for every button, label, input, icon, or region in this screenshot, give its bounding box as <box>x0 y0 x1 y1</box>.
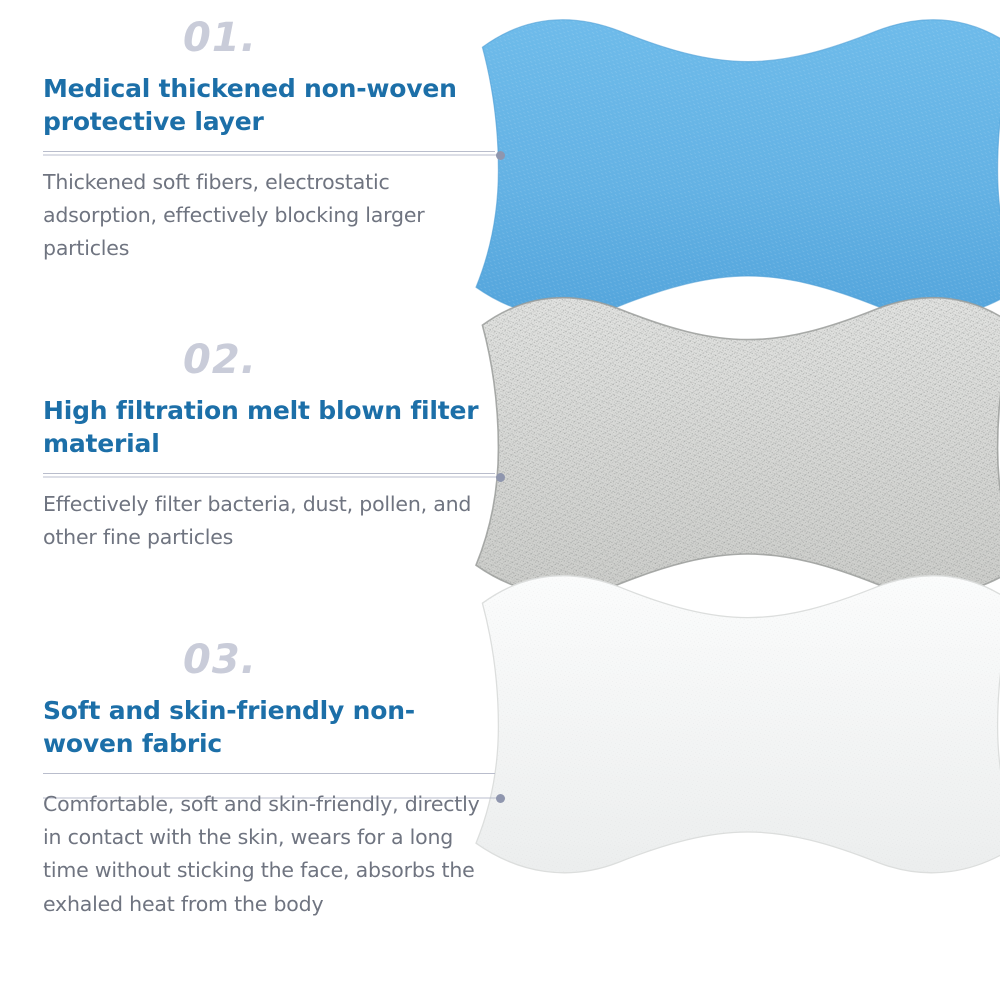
layer-1-divider <box>43 151 495 152</box>
layer-1-description: Thickened soft fibers, electrostatic ads… <box>43 166 495 266</box>
layer-3-number: 03. <box>183 640 495 680</box>
leader-dot-2 <box>496 473 505 482</box>
layer-3-title: Soft and skin-friendly non-woven fabric <box>43 694 495 760</box>
layer-1-shape <box>476 20 1000 317</box>
layer-2-divider <box>43 473 495 474</box>
layer-3-description: Comfortable, soft and skin-friendly, dir… <box>43 788 495 921</box>
leader-dot-1 <box>496 151 505 160</box>
layer-2-description: Effectively filter bacteria, dust, polle… <box>43 488 495 554</box>
layer-2-number: 02. <box>183 340 495 380</box>
layer-1-number: 01. <box>183 18 495 58</box>
layer-2-shape <box>476 298 1000 595</box>
layer-3-divider <box>43 773 495 774</box>
layer-1-text-block: 01. Medical thickened non-woven protecti… <box>43 18 495 266</box>
layer-3-text-block: 03. Soft and skin-friendly non-woven fab… <box>43 640 495 921</box>
leader-dot-3 <box>496 794 505 803</box>
layer-3-shape <box>476 576 1000 873</box>
layer-2-title: High filtration melt blown filter materi… <box>43 394 495 460</box>
infographic-canvas: 01. Medical thickened non-woven protecti… <box>0 0 1000 1000</box>
layer-1-title: Medical thickened non-woven protective l… <box>43 72 495 138</box>
layer-2-text-block: 02. High filtration melt blown filter ma… <box>43 340 495 554</box>
